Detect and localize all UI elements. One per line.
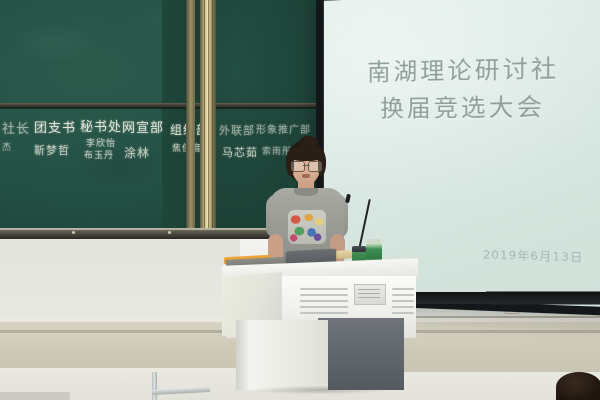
tray-screw: [72, 231, 75, 234]
chalk-name: 涂林: [124, 144, 150, 161]
chalk-name: 马芯茹: [222, 144, 258, 160]
chalk-name: 布玉丹: [84, 148, 114, 161]
podium-vent-slot: [300, 288, 348, 290]
podium-column-shading: [236, 320, 250, 390]
podium-vent-slot: [392, 294, 414, 296]
podium-floor-shadow: [230, 386, 410, 396]
slide-date: 2019年6月13日: [483, 246, 584, 266]
podium-vent-slot: [392, 306, 414, 308]
chalk-heading: 秘书处: [80, 116, 122, 135]
chalk-name: 靳梦哲: [34, 142, 70, 158]
wall-shadow: [0, 232, 240, 332]
mouth: [302, 174, 310, 178]
podium-vent-slot: [392, 300, 414, 302]
podium-vent-slot: [300, 306, 348, 308]
podium-front-panel: [318, 318, 404, 390]
tray-screw: [168, 231, 171, 234]
blackboard-track-vertical: [200, 0, 216, 236]
chalk-heading: 形象推广部: [256, 121, 311, 136]
tshirt-collar: [294, 188, 318, 196]
blackboard-track-secondary: [186, 0, 195, 236]
glasses-icon: [291, 161, 322, 170]
chalk-name: 杰: [2, 140, 12, 153]
podium-vent-slot: [392, 312, 414, 314]
audience-head: [556, 372, 600, 400]
chalk-heading: 社长: [2, 118, 30, 137]
microphone-base: [352, 246, 366, 252]
slide-title-line2: 换届竞选大会: [324, 89, 600, 129]
classroom-scene-photo: 社长 团支书 秘书处 网宣部 组织部 外联部 形象推广部 杰 靳梦哲 李欣怡 布…: [0, 0, 600, 400]
foreground-desk: [0, 392, 70, 400]
chalk-heading: 团支书: [34, 117, 76, 136]
podium-vent-slot: [392, 288, 414, 290]
slide-title: 南湖理论研讨社 换届竞选大会: [324, 50, 600, 128]
blackboard-rail-middle-shadow: [0, 107, 320, 109]
chalk-heading: 网宣部: [122, 117, 164, 136]
podium-label-plate: [354, 284, 386, 305]
chalk-heading: 外联部: [219, 122, 255, 138]
tshirt-graphic: [288, 210, 326, 244]
podium-vent-slot: [300, 294, 348, 296]
metal-bracket-vertical: [152, 372, 157, 400]
speaker-person: [258, 138, 354, 268]
slide-title-line1: 南湖理论研讨社: [324, 50, 600, 92]
podium-vent-slot: [300, 312, 348, 314]
podium-vent-slot: [300, 300, 348, 302]
